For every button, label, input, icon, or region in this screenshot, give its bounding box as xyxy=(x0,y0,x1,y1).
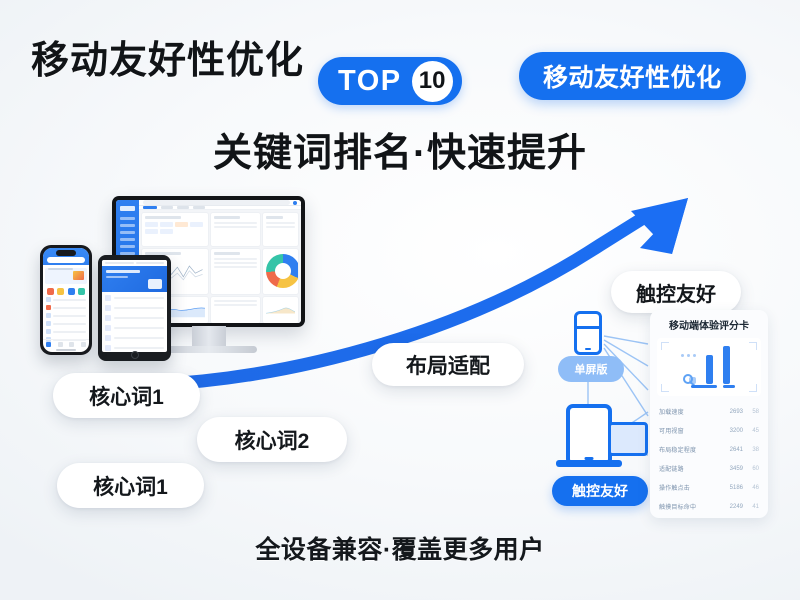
row-value: 5186 xyxy=(719,485,743,491)
dashboard-card xyxy=(263,213,298,246)
list-item-text xyxy=(114,317,164,319)
phone-home-indicator xyxy=(56,349,76,351)
list-item-icon xyxy=(46,329,51,334)
chart-baseline xyxy=(691,385,717,388)
keyword-pill-2: 核心词2 xyxy=(197,417,347,462)
chip-group xyxy=(145,222,205,234)
promo-title xyxy=(48,268,73,270)
card-heading xyxy=(145,216,181,219)
tab xyxy=(177,206,189,209)
tabbar-item xyxy=(81,342,86,347)
sidebar-item xyxy=(120,217,135,220)
list-item-text xyxy=(53,315,86,317)
tabbar-item xyxy=(69,342,74,347)
chip xyxy=(160,229,173,234)
tablet-hero-banner xyxy=(102,266,167,292)
table-row: 操作触点击 5186 46 xyxy=(657,478,761,497)
table-row: 可用视窗 3200 45 xyxy=(657,421,761,440)
list-item xyxy=(46,321,86,326)
table-row: 布局稳定程度 2641 38 xyxy=(657,440,761,459)
quick-action-row xyxy=(43,286,89,297)
top-badge-number: 10 xyxy=(412,61,453,102)
sidebar-item xyxy=(120,245,135,248)
list-item-text xyxy=(114,327,164,329)
list-item xyxy=(46,305,86,310)
chip xyxy=(160,222,173,227)
hero-title-line xyxy=(106,270,140,273)
sidebar-item xyxy=(120,238,135,241)
list-item-icon xyxy=(105,345,111,351)
bracket-corner-icon xyxy=(749,384,757,392)
large-phone-icon xyxy=(566,404,612,466)
card-heading xyxy=(266,216,284,219)
donut-chart xyxy=(266,254,298,288)
phone-divider xyxy=(577,326,599,329)
touch-friendly-tag: 触控友好 xyxy=(552,476,648,506)
keyword-pill-1: 核心词1 xyxy=(53,373,200,418)
top-badge-word: TOP xyxy=(338,67,402,96)
list-item-icon xyxy=(105,315,111,321)
list-item-text xyxy=(53,307,86,309)
phone-screen xyxy=(43,248,89,352)
quick-action-icon xyxy=(78,288,85,295)
list-item-icon xyxy=(105,325,111,331)
row-name: 加载速度 xyxy=(659,407,719,416)
list-item-icon xyxy=(105,335,111,341)
chip xyxy=(145,222,158,227)
card-line xyxy=(214,262,257,264)
list-item-text xyxy=(114,297,164,299)
phone-notch xyxy=(56,250,76,256)
row-score: 60 xyxy=(743,466,759,472)
header-tag-pill: 移动友好性优化 xyxy=(519,52,746,100)
avatar xyxy=(293,201,297,205)
laptop-icon xyxy=(608,422,648,456)
scorecard-chart xyxy=(657,338,761,396)
row-value: 2249 xyxy=(719,504,743,510)
list-item xyxy=(105,315,164,321)
phone-result-list xyxy=(43,297,89,342)
scorecard-panel: 移动端体验评分卡 xyxy=(650,310,768,518)
list-item xyxy=(46,313,86,318)
list-item-text xyxy=(53,331,86,333)
list-item xyxy=(46,329,86,334)
statusbar-item xyxy=(105,262,134,264)
card-line xyxy=(214,304,257,306)
tabbar-item-active xyxy=(46,342,51,347)
table-row: 加载速度 2693 58 xyxy=(657,402,761,421)
page-title: 移动友好性优化 xyxy=(31,29,304,84)
phone-tabbar xyxy=(43,339,89,348)
row-name: 操作触点击 xyxy=(659,483,719,492)
footer-tagline: 全设备兼容·覆盖更多用户 xyxy=(0,530,800,566)
tab xyxy=(161,206,173,209)
row-value: 2693 xyxy=(719,409,743,415)
scorecard-rows: 加载速度 2693 58 可用视窗 3200 45 布局稳定程度 2641 38… xyxy=(657,402,761,516)
table-row: 适配链路 3459 60 xyxy=(657,459,761,478)
list-item xyxy=(105,335,164,341)
row-name: 布局稳定程度 xyxy=(659,445,719,454)
list-item-text xyxy=(53,323,86,325)
page-subtitle: 关键词排名·快速提升 xyxy=(0,122,800,178)
chart-bar xyxy=(723,346,730,384)
list-item xyxy=(46,297,86,302)
list-item-icon xyxy=(105,295,111,301)
dashboard-card xyxy=(142,213,208,246)
row-value: 3200 xyxy=(719,428,743,434)
quick-action-icon xyxy=(68,288,75,295)
chart-bars xyxy=(657,344,761,384)
list-item-text xyxy=(53,299,86,301)
card-line xyxy=(266,226,295,228)
promo-thumbnail xyxy=(73,271,84,280)
list-item xyxy=(105,295,164,301)
tablet-screen xyxy=(102,260,167,352)
hero-sub-line xyxy=(106,276,128,278)
row-score: 46 xyxy=(743,485,759,491)
list-item-icon xyxy=(46,321,51,326)
row-score: 38 xyxy=(743,447,759,453)
tab xyxy=(193,206,205,209)
list-item xyxy=(105,325,164,331)
dashboard-card xyxy=(211,297,260,323)
list-item-text xyxy=(114,307,164,309)
scorecard-title: 移动端体验评分卡 xyxy=(657,317,761,332)
list-item xyxy=(105,305,164,311)
laptop-base-icon xyxy=(556,460,622,467)
list-item-icon xyxy=(46,305,51,310)
card-line xyxy=(214,300,257,302)
small-phone-icon xyxy=(574,311,602,355)
keyword-pill-3: 核心词1 xyxy=(57,463,204,508)
row-score: 41 xyxy=(743,504,759,510)
top-rank-badge: TOP 10 xyxy=(318,57,462,105)
chip xyxy=(190,222,203,227)
area-chart xyxy=(266,300,295,320)
chart-baseline xyxy=(723,385,735,388)
sidebar-item xyxy=(120,224,135,227)
list-item-text xyxy=(114,337,164,339)
statusbar-item xyxy=(136,262,165,264)
search-icon xyxy=(143,200,290,205)
monitor-stand-base xyxy=(161,346,257,353)
donut-chart-card xyxy=(263,249,298,294)
card-line xyxy=(214,266,257,268)
phone-home-bar xyxy=(585,348,591,350)
card-line xyxy=(266,222,295,224)
tablet-home-button xyxy=(131,351,139,359)
table-row: 触摸目标命中 2249 41 xyxy=(657,497,761,516)
row-value: 2641 xyxy=(719,447,743,453)
card-line xyxy=(214,222,257,224)
phone-mockup xyxy=(40,245,92,355)
quick-action-icon xyxy=(47,288,54,295)
magnifier-icon xyxy=(683,374,693,384)
search-input xyxy=(47,257,85,263)
dashboard-logo-icon xyxy=(120,206,135,211)
chip xyxy=(145,229,158,234)
row-name: 可用视窗 xyxy=(659,426,719,435)
hero-image-thumb xyxy=(148,279,162,289)
card-line xyxy=(214,258,257,260)
list-item-icon xyxy=(105,305,111,311)
card-heading xyxy=(214,216,240,219)
promo-card xyxy=(45,268,87,284)
chip xyxy=(175,222,188,227)
tab-active xyxy=(143,206,157,209)
row-score: 58 xyxy=(743,409,759,415)
card-line xyxy=(214,226,257,228)
bracket-corner-icon xyxy=(661,384,669,392)
dashboard-card xyxy=(211,213,260,246)
layout-adaptation-pill: 布局适配 xyxy=(372,343,524,386)
poster-canvas: 移动友好性优化 TOP 10 移动友好性优化 关键词排名·快速提升 xyxy=(0,0,800,600)
area-chart-card xyxy=(263,297,298,323)
row-score: 45 xyxy=(743,428,759,434)
row-name: 适配链路 xyxy=(659,464,719,473)
mobile-experience-diagram: 单屏版 触控友好 移动端体验评分卡 xyxy=(548,300,770,520)
monitor-stand-neck xyxy=(192,326,226,346)
list-item-text xyxy=(114,347,164,349)
tablet-result-list xyxy=(102,292,167,352)
tablet-mockup xyxy=(98,255,171,361)
list-item-icon xyxy=(46,297,51,302)
dashboard-card xyxy=(211,249,260,294)
row-name: 触摸目标命中 xyxy=(659,502,719,511)
quick-action-icon xyxy=(57,288,64,295)
single-screen-tag: 单屏版 xyxy=(558,356,624,382)
chart-bar xyxy=(706,355,713,384)
card-heading xyxy=(214,252,240,255)
list-item-icon xyxy=(46,313,51,318)
tabbar-item xyxy=(58,342,63,347)
row-value: 3459 xyxy=(719,466,743,472)
sidebar-item xyxy=(120,231,135,234)
